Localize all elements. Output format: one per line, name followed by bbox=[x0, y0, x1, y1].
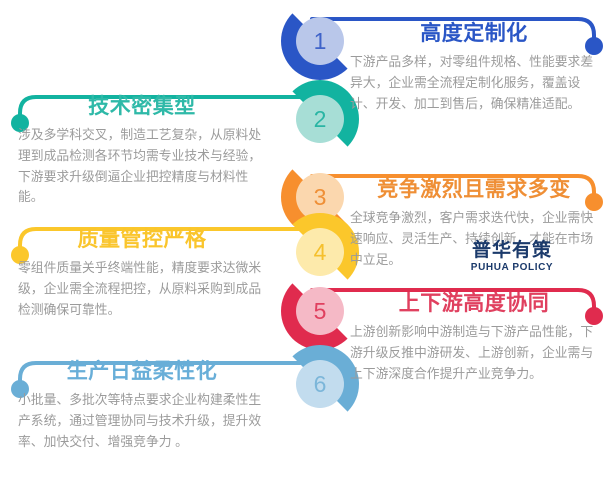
step-body-1: 下游产品多样，对零组件规格、性能要求差异大，企业需全流程定制化服务，覆盖设计、开… bbox=[350, 52, 598, 114]
step-inner-6: 6 bbox=[296, 360, 344, 408]
step-node-1[interactable]: 1 bbox=[281, 2, 359, 80]
step-title-3: 竞争激烈且需求多变 bbox=[350, 178, 598, 201]
step-text-2: 技术密集型 涉及多学科交叉，制造工艺复杂，从原料处理到成品检测各环节均需专业技术… bbox=[18, 95, 266, 208]
infographic-canvas: 1 2 3 4 5 bbox=[0, 0, 612, 488]
step-inner-5: 5 bbox=[296, 287, 344, 335]
step-title-5: 上下游高度协同 bbox=[350, 292, 598, 315]
step-text-3: 竞争激烈且需求多变 全球竞争激烈，客户需求迭代快，企业需快速响应、灵活生产、持续… bbox=[350, 178, 598, 270]
step-body-2: 涉及多学科交叉，制造工艺复杂，从原料处理到成品检测各环节均需专业技术与经验，下游… bbox=[18, 125, 266, 208]
step-inner-4: 4 bbox=[296, 228, 344, 276]
step-body-4: 零组件质量关乎终端性能，精度要求达微米级，企业需全流程把控，从原料采购到成品检测… bbox=[18, 258, 266, 320]
step-number-4: 4 bbox=[314, 241, 327, 264]
step-title-1: 高度定制化 bbox=[350, 22, 598, 45]
step-title-6: 生产日益柔性化 bbox=[18, 360, 266, 383]
step-title-4: 质量管控严格 bbox=[18, 228, 266, 251]
step-body-3: 全球竞争激烈，客户需求迭代快，企业需快速响应、灵活生产、持续创新，才能在市场中立… bbox=[350, 208, 598, 270]
step-text-4: 质量管控严格 零组件质量关乎终端性能，精度要求达微米级，企业需全流程把控，从原料… bbox=[18, 228, 266, 320]
step-title-2: 技术密集型 bbox=[18, 95, 266, 118]
step-text-5: 上下游高度协同 上游创新影响中游制造与下游产品性能，下游升级反推中游研发、上游创… bbox=[350, 292, 598, 384]
step-inner-2: 2 bbox=[296, 95, 344, 143]
step-node-2[interactable]: 2 bbox=[281, 80, 359, 158]
step-node-5[interactable]: 5 bbox=[281, 272, 359, 350]
step-node-6[interactable]: 6 bbox=[281, 345, 359, 423]
step-number-2: 2 bbox=[314, 108, 327, 131]
step-number-6: 6 bbox=[314, 373, 327, 396]
step-inner-1: 1 bbox=[296, 17, 344, 65]
step-body-6: 小批量、多批次等特点要求企业构建柔性生产系统，通过管理协同与技术升级，提升效率、… bbox=[18, 390, 266, 452]
step-text-6: 生产日益柔性化 小批量、多批次等特点要求企业构建柔性生产系统，通过管理协同与技术… bbox=[18, 360, 266, 452]
step-number-5: 5 bbox=[314, 300, 327, 323]
step-number-3: 3 bbox=[314, 186, 327, 209]
step-text-1: 高度定制化 下游产品多样，对零组件规格、性能要求差异大，企业需全流程定制化服务，… bbox=[350, 22, 598, 114]
step-body-5: 上游创新影响中游制造与下游产品性能，下游升级反推中游研发、上游创新，企业需与上下… bbox=[350, 322, 598, 384]
step-number-1: 1 bbox=[314, 30, 327, 53]
